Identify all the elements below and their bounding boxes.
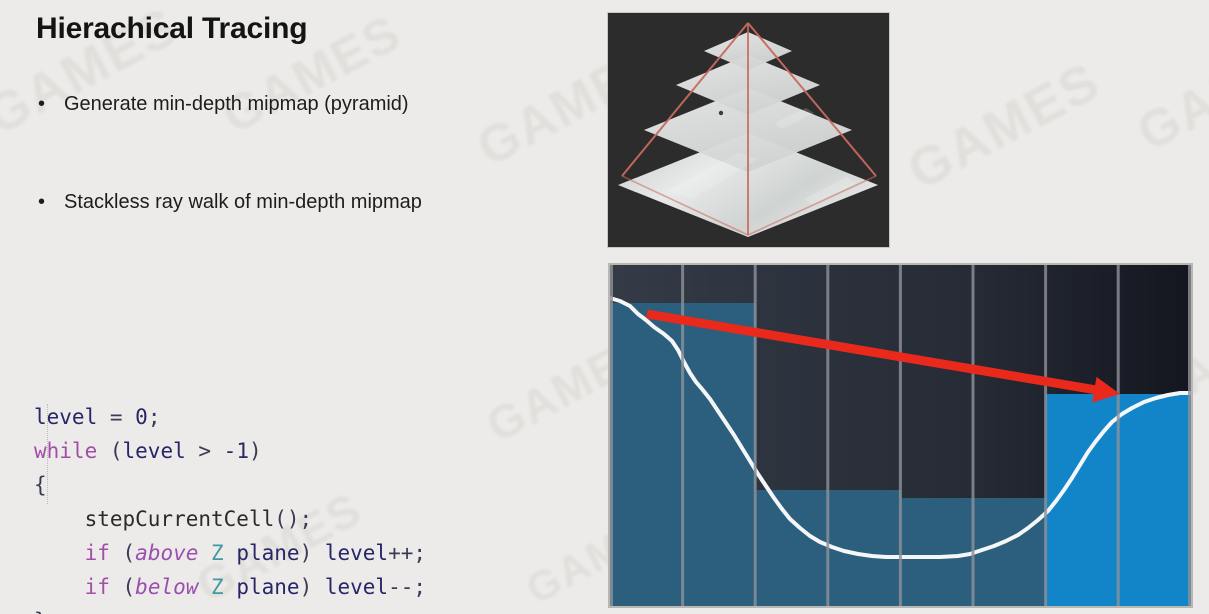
watermark-games: GAMES [1128,16,1209,163]
code-token: ( [97,439,122,463]
code-lines: level = 0;while (level > -1){ stepCurren… [34,400,426,614]
cell-min-depth-fill [755,490,828,606]
code-token: plane [224,575,300,599]
code-token: --; [388,575,426,599]
code-line: if (below Z plane) level--; [34,570,426,604]
code-token: level [34,405,97,429]
code-token: level [123,439,186,463]
code-line: { [34,468,426,502]
code-token: { [34,473,47,497]
code-token: Z [211,575,224,599]
code-token: ) [249,439,262,463]
code-token: above [135,541,198,565]
code-token [198,575,211,599]
code-token [198,541,211,565]
code-token: if [85,575,110,599]
code-token: -1 [224,439,249,463]
bullet-dot-icon: • [38,192,64,212]
code-token: stepCurrentCell [85,507,275,531]
cell-min-depth-fill [900,498,973,606]
code-token: ) [300,575,325,599]
code-token: 0 [135,405,148,429]
code-token [34,507,85,531]
code-token: } [34,609,47,614]
code-token [34,575,85,599]
code-line: while (level > -1) [34,434,426,468]
bullet-item: • Stackless ray walk of min-depth mipmap [38,190,422,215]
code-token: below [135,575,198,599]
code-token: ; [148,405,161,429]
code-token: while [34,439,97,463]
cell-min-depth-fill [610,303,683,606]
code-token: (); [274,507,312,531]
slide: GAMES GAMES GAMES GAMES GAMES GAMES GAME… [0,0,1209,614]
code-token: ) [300,541,325,565]
cell-min-depth-fill [973,498,1046,606]
code-line: if (above Z plane) level++; [34,536,426,570]
watermark-games: GAMES [898,50,1111,202]
bullet-item: • Generate min-depth mipmap (pyramid) [38,92,409,117]
cell-min-depth-fill [1118,394,1191,606]
code-token: plane [224,541,300,565]
code-line: stepCurrentCell(); [34,502,426,536]
bullet-dot-icon: • [38,94,64,114]
code-token: ( [110,541,135,565]
code-token: if [85,541,110,565]
slide-title: Hierachical Tracing [36,12,307,46]
pyramid-marker-dot [719,111,723,115]
mipmap-pyramid-svg [608,13,889,247]
code-block: level = 0;while (level > -1){ stepCurren… [34,298,426,614]
code-line: level = 0; [34,400,426,434]
bullet-label: Generate min-depth mipmap (pyramid) [64,92,409,117]
code-line: } [34,604,426,614]
depth-cells-figure [608,263,1193,608]
code-token: ++; [388,541,426,565]
code-token [34,541,85,565]
code-token: Z [211,541,224,565]
code-token: level [325,575,388,599]
code-token: = [97,405,135,429]
code-token: ( [110,575,135,599]
bullet-label: Stackless ray walk of min-depth mipmap [64,190,422,215]
code-token: level [325,541,388,565]
code-token: > [186,439,224,463]
depth-cells-svg [610,265,1191,606]
mipmap-pyramid-figure [607,12,890,248]
